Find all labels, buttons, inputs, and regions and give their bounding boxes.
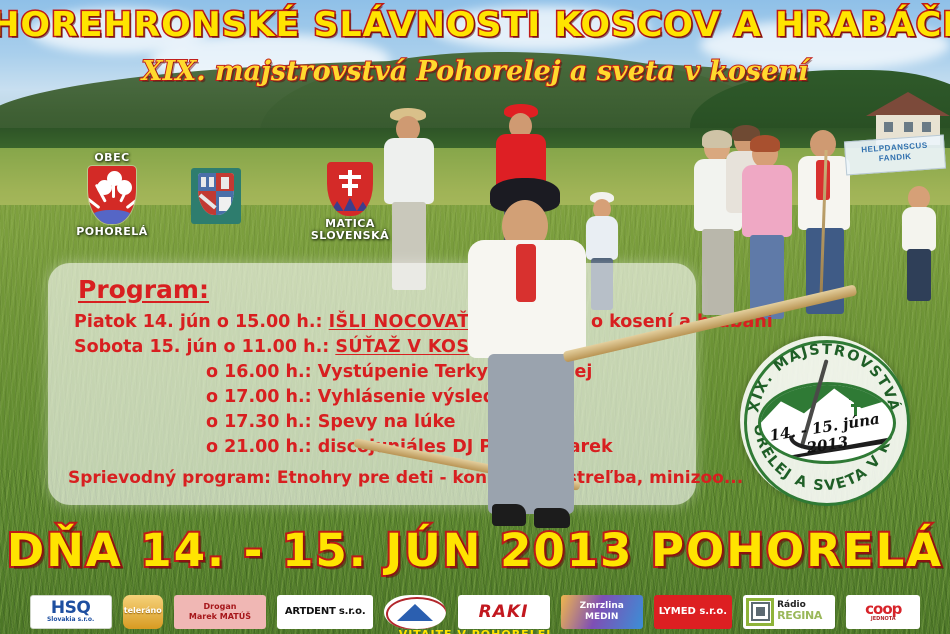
footer-cut-text: VITAJTE V POHORELEJ: [0, 628, 950, 634]
sponsor-drogan-line1: Drogan: [204, 602, 237, 611]
sponsor-logo-raki: RAKI: [458, 595, 550, 629]
sponsor-logo-zmrzlina-medin: Zmrzlina MEDIN: [561, 595, 643, 629]
sponsor-hsq-sub: Slovakia s.r.o.: [47, 617, 94, 623]
program-accompanying: Sprievodný program: Etnohry pre deti - k…: [68, 466, 678, 491]
program-row-highlight: IŠLI NOCOVAŤ: [329, 312, 470, 332]
shield-region-icon: [191, 168, 241, 224]
sponsor-hsq-name: HSQ: [51, 600, 90, 617]
sponsor-zmrzlina-line1: Zmrzlina: [580, 601, 624, 611]
crowd-banner: HELPDANSCUS FANDIK: [844, 135, 946, 176]
program-row-prefix: o 17.30 h.: Spevy na lúke: [206, 412, 456, 432]
shield-matica-icon: [327, 162, 373, 216]
sponsor-coop-line1: coop: [865, 602, 901, 617]
crest-caption-top: OBEC: [62, 152, 162, 164]
program-row-prefix: Sobota 15. jún o 11.00 h.:: [74, 337, 335, 357]
sponsor-logo-hsq: HSQ Slovakia s.r.o.: [30, 595, 112, 629]
shield-pohorela-icon: [88, 166, 136, 224]
sponsor-logo-mountain-club: [384, 595, 446, 629]
sponsor-logo-coop: coop JEDNOTA: [846, 595, 920, 629]
crest-matica-line2: SLOVENSKÁ: [306, 230, 394, 242]
poster-canvas: HELPDANSCUS FANDIK HOREHRONSKÉ SLÁVNOSTI…: [0, 0, 950, 634]
program-row: Piatok 14. jún o 15.00 h.: IŠLI NOCOVAŤ …: [74, 310, 678, 335]
sponsor-logo-lymed: LYMED s.r.o.: [654, 595, 732, 629]
sponsor-telerano-name: teleráno: [124, 607, 162, 615]
program-row-prefix: o 17.00 h.: Vyhlásenie výsledkov: [206, 387, 530, 407]
program-panel: Program: Piatok 14. jún o 15.00 h.: IŠLI…: [48, 263, 696, 505]
program-row: o 16.00 h.: Vystúpenie Terky Zibríkovej: [206, 360, 678, 385]
event-date-banner: DŇA 14. - 15. JÚN 2013 POHORELÁ: [0, 524, 950, 577]
sponsor-regina-line2: REGINA: [777, 610, 822, 622]
championship-emblem: XIX. MAJSTROVSTVÁ POHORELEJ A SVETA V KO…: [740, 336, 908, 504]
crest-region: [186, 166, 246, 226]
sponsor-logo-drogan: Drogan Marek MATÚŠ: [174, 595, 266, 629]
crest-caption-bottom: POHORELÁ: [62, 226, 162, 238]
sponsor-logo-radio-regina: Rádio REGINA: [743, 595, 835, 629]
crest-matica-slovenska: MATICA SLOVENSKÁ: [306, 160, 394, 242]
program-row: o 17.30 h.: Spevy na lúke: [206, 410, 678, 435]
sponsor-zmrzlina-line2: MEDIN: [585, 612, 618, 622]
page-title: HOREHRONSKÉ SLÁVNOSTI KOSCOV A HRABÁČIEK…: [0, 6, 950, 44]
rtvs-square-icon: [746, 598, 774, 626]
program-row: o 17.00 h.: Vyhlásenie výsledkov: [206, 385, 678, 410]
program-heading: Program:: [78, 275, 678, 304]
sponsor-logo-artdent: ARTDENT s.r.o.: [277, 595, 373, 629]
sponsor-drogan-line2: Marek MATÚŠ: [189, 612, 251, 621]
sponsor-coop-line2: JEDNOTA: [871, 617, 896, 622]
crest-obec-pohorela: OBEC POHORELÁ: [62, 152, 162, 238]
program-row-prefix: Piatok 14. jún o 15.00 h.:: [74, 312, 329, 332]
page-subtitle: XIX. majstrovstvá Pohorelej a sveta v ko…: [0, 56, 950, 87]
sponsor-logo-telerano: teleráno: [123, 595, 163, 629]
